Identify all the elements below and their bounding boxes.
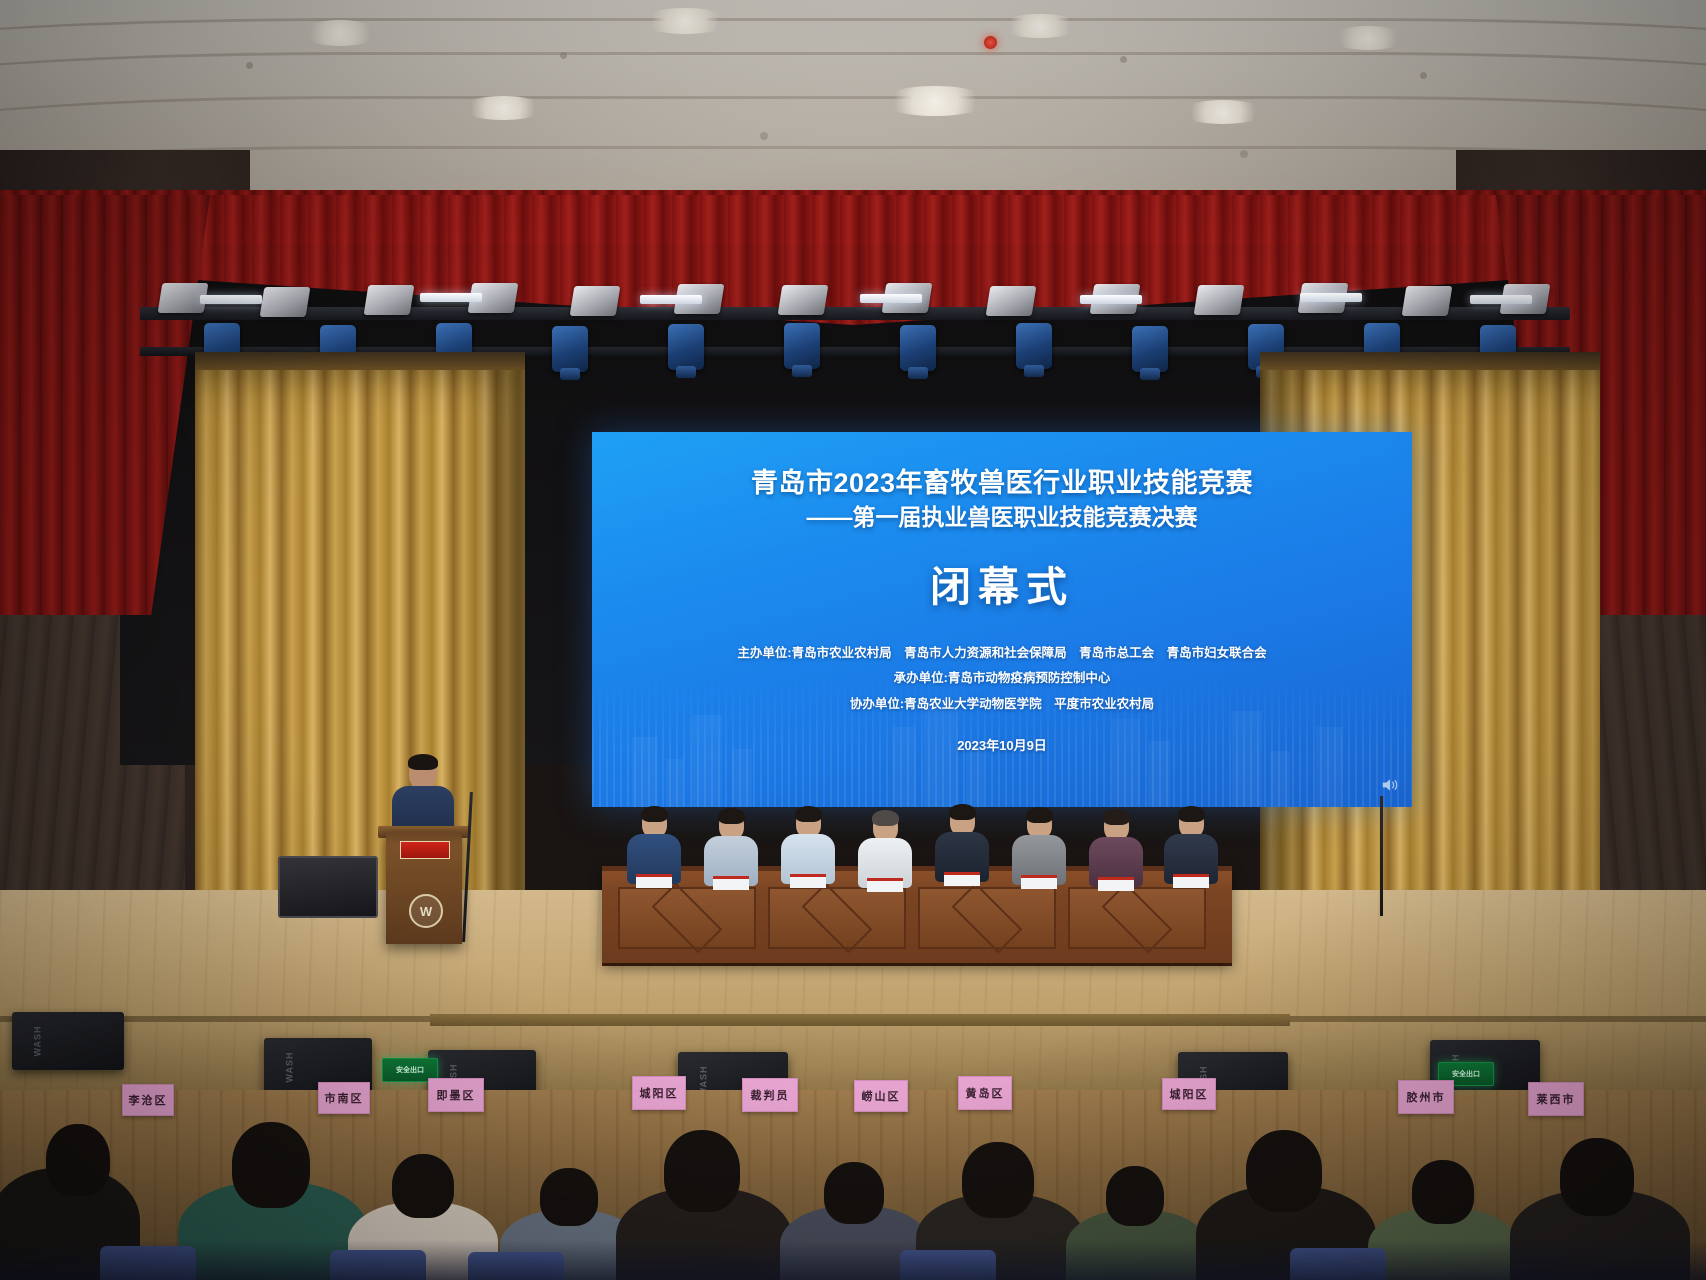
auditorium-seat[interactable] — [468, 1252, 564, 1280]
placard-label: 崂山区 — [862, 1088, 901, 1104]
screen-organizers: 主办单位:青岛市农业农村局 青岛市人力资源和社会保障局 青岛市总工会 青岛市妇女… — [737, 641, 1266, 718]
stage-light-fixture — [986, 286, 1037, 316]
name-card — [1098, 877, 1134, 891]
audience-member — [962, 1142, 1034, 1218]
audience-member — [1412, 1160, 1474, 1224]
stage-light-fixture — [260, 287, 311, 317]
audience-placard: 莱西市 — [1528, 1082, 1584, 1116]
screen-headline: 闭幕式 — [930, 553, 1074, 613]
placard-label: 城阳区 — [1170, 1086, 1209, 1102]
moving-head-light — [1016, 323, 1052, 369]
placard-label: 黄岛区 — [966, 1085, 1005, 1101]
moving-head-light — [668, 324, 704, 370]
seated-official — [703, 810, 759, 884]
audience-placard: 裁判员 — [742, 1078, 798, 1112]
stage-light-fixture — [570, 286, 621, 316]
name-card — [1173, 874, 1209, 888]
placard-label: 裁判员 — [751, 1087, 790, 1103]
moving-head-light — [900, 325, 936, 371]
seated-official — [1011, 809, 1067, 883]
audience-member — [46, 1124, 110, 1196]
seated-official — [1163, 808, 1219, 882]
placard-label: 市南区 — [325, 1090, 364, 1106]
moving-head-light — [784, 323, 820, 369]
moving-head-light — [1132, 326, 1168, 372]
ceiling — [0, 0, 1706, 215]
name-card — [1021, 875, 1057, 889]
name-card — [944, 872, 980, 886]
placard-label: 胶州市 — [1407, 1089, 1446, 1105]
auditorium-seat[interactable] — [1290, 1248, 1386, 1280]
audience-member — [1106, 1166, 1164, 1226]
name-card — [636, 874, 672, 888]
audience-placard: 李沧区 — [122, 1084, 174, 1116]
moving-head-light — [552, 326, 588, 372]
podium-emblem: W — [409, 894, 443, 928]
seat-row — [0, 1240, 1706, 1280]
stage-light-fixture — [364, 285, 415, 315]
podium-nameplate — [400, 841, 450, 859]
name-card — [713, 876, 749, 890]
audience-member — [232, 1122, 310, 1208]
audience-member — [1246, 1130, 1322, 1212]
name-card — [867, 878, 903, 892]
audience-placard: 市南区 — [318, 1082, 370, 1114]
audience-placard: 胶州市 — [1398, 1080, 1454, 1114]
auditorium-seat[interactable] — [900, 1250, 996, 1280]
organizer-line-coorganizer: 协办单位:青岛农业大学动物医学院 平度市农业农村局 — [737, 692, 1266, 718]
placard-label: 李沧区 — [129, 1092, 168, 1108]
audience-member — [392, 1154, 454, 1218]
led-screen: 青岛市2023年畜牧兽医行业职业技能竞赛 ——第一届执业兽医职业技能竞赛决赛 闭… — [592, 432, 1412, 807]
audience-placard: 黄岛区 — [958, 1076, 1012, 1110]
organizer-line-host: 主办单位:青岛市农业农村局 青岛市人力资源和社会保障局 青岛市总工会 青岛市妇女… — [737, 641, 1266, 667]
screen-date: 2023年10月9日 — [957, 735, 1047, 754]
stage-light-fixture — [778, 285, 829, 315]
seated-official — [857, 812, 913, 886]
auditorium-house: 安全出口 安全出口 李沧区 市南区 即墨区 城阳区 裁判员 崂山区 黄岛区 城阳… — [0, 1090, 1706, 1280]
name-card — [790, 874, 826, 888]
equipment-case — [278, 856, 378, 918]
exit-sign-label: 安全出口 — [1452, 1069, 1480, 1079]
microphone-stand — [1380, 796, 1383, 916]
auditorium-seat[interactable] — [330, 1250, 426, 1280]
screen-title-line2: ——第一届执业兽医职业技能竞赛决赛 — [807, 503, 1198, 532]
audience-placard: 即墨区 — [428, 1078, 484, 1112]
auditorium-seat[interactable] — [100, 1246, 196, 1280]
screen-title-line1: 青岛市2023年畜牧兽医行业职业技能竞赛 — [751, 468, 1253, 500]
audience-member — [824, 1162, 884, 1224]
organizer-line-undertaker: 承办单位:青岛市动物疫病预防控制中心 — [737, 666, 1266, 692]
audience-member — [1560, 1138, 1634, 1216]
audience-placard: 城阳区 — [632, 1076, 686, 1110]
auditorium-scene: 青岛市2023年畜牧兽医行业职业技能竞赛 ——第一届执业兽医职业技能竞赛决赛 闭… — [0, 0, 1706, 1280]
placard-label: 城阳区 — [640, 1085, 679, 1101]
ceiling-indicator-light — [984, 36, 997, 49]
audience-placard: 崂山区 — [854, 1080, 908, 1112]
seated-official — [780, 808, 836, 882]
audience-member — [664, 1130, 740, 1212]
stage-light-fixture — [1194, 285, 1245, 315]
placard-label: 即墨区 — [437, 1087, 476, 1103]
audience-member — [540, 1168, 598, 1226]
seated-official — [626, 808, 682, 882]
seated-official — [1088, 811, 1144, 885]
seated-official — [934, 806, 990, 880]
stage-light-fixture — [1402, 286, 1453, 316]
speaker-icon — [1380, 777, 1400, 793]
placard-label: 莱西市 — [1537, 1091, 1576, 1107]
audience-placard: 城阳区 — [1162, 1078, 1216, 1110]
floor-monitor: WASH — [12, 1012, 124, 1070]
exit-sign-label: 安全出口 — [396, 1065, 424, 1075]
